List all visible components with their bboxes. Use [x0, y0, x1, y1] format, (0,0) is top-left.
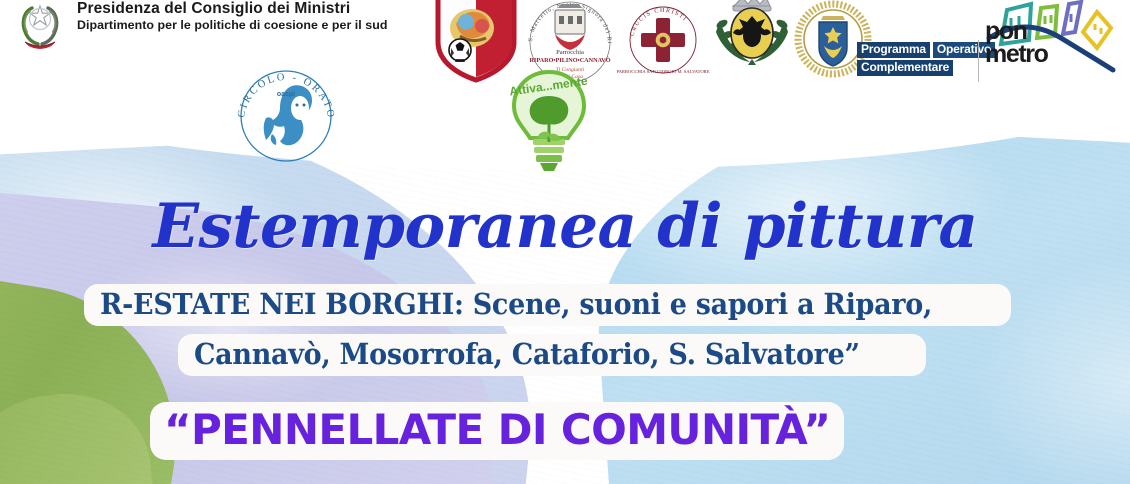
svg-text:Parrocchia: Parrocchia — [556, 49, 584, 56]
department-subtitle: Dipartimento per le politiche di coesion… — [77, 18, 387, 33]
poc-programma-chip: Programma — [857, 42, 930, 58]
pon-metro-wordmark: pon metro — [985, 20, 1047, 66]
government-logo-block: Presidenza del Consiglio dei Ministri Di… — [12, 0, 387, 56]
svg-text:RIPARO•PILINO•CANNAVÒ: RIPARO•PILINO•CANNAVÒ — [529, 56, 610, 64]
italian-republic-emblem-icon — [12, 0, 68, 56]
crucis-christi-cross-logo: CRUCIS CHRISTI PARROCCHIA SAN GIORGIO M.… — [625, 2, 701, 78]
metro-text: metro — [985, 43, 1047, 66]
attivamente-lightbulb-logo: Attiva...mente — [502, 66, 596, 174]
subtitle-line1: R-ESTATE NEI BORGHI: Scene, suoni e sapo… — [100, 287, 932, 321]
logo-divider — [978, 40, 979, 82]
circolo-oratorio-santagata-logo: CIRCOLO - ORATORIO SANT'AGATA oaspi — [228, 56, 344, 168]
svg-text:PARROCCHIA SAN GIORGIO M. SALV: PARROCCHIA SAN GIORGIO M. SALVATORE — [616, 69, 709, 74]
programma-operativo-complementare-logo: Programma Operativo Complementare — [857, 42, 975, 80]
svg-text:CIRCOLO - ORATORIO SANT'AGATA: CIRCOLO - ORATORIO SANT'AGATA — [223, 48, 336, 120]
headline-text: “PENNELLATE DI COMUNITÀ” — [164, 405, 830, 454]
svg-text:oaspi: oaspi — [277, 91, 295, 98]
government-text: Presidenza del Consiglio dei Ministri Di… — [77, 0, 387, 33]
logo-header: Presidenza del Consiglio dei Ministri Di… — [0, 0, 1130, 100]
citta-metropolitana-coat-of-arms: Città Metropolitana di Reggio Calabria -… — [700, 0, 804, 86]
subtitle-line1-container: R-ESTATE NEI BORGHI: Scene, suoni e sapo… — [84, 284, 1011, 326]
subtitle-line2: Cannavò, Mosorrofa, Cataforio, S. Salvat… — [194, 337, 860, 371]
ministry-title: Presidenza del Consiglio dei Ministri — [77, 0, 387, 17]
pon-metro-logo: pon metro — [985, 0, 1117, 86]
poster-main-title: Estemporanea di pittura — [0, 196, 1130, 257]
poc-complementare-chip: Complementare — [857, 60, 953, 76]
headline-container: “PENNELLATE DI COMUNITÀ” — [150, 402, 844, 460]
event-poster: Presidenza del Consiglio dei Ministri Di… — [0, 0, 1130, 484]
subtitle-line2-container: Cannavò, Mosorrofa, Cataforio, S. Salvat… — [178, 334, 926, 376]
